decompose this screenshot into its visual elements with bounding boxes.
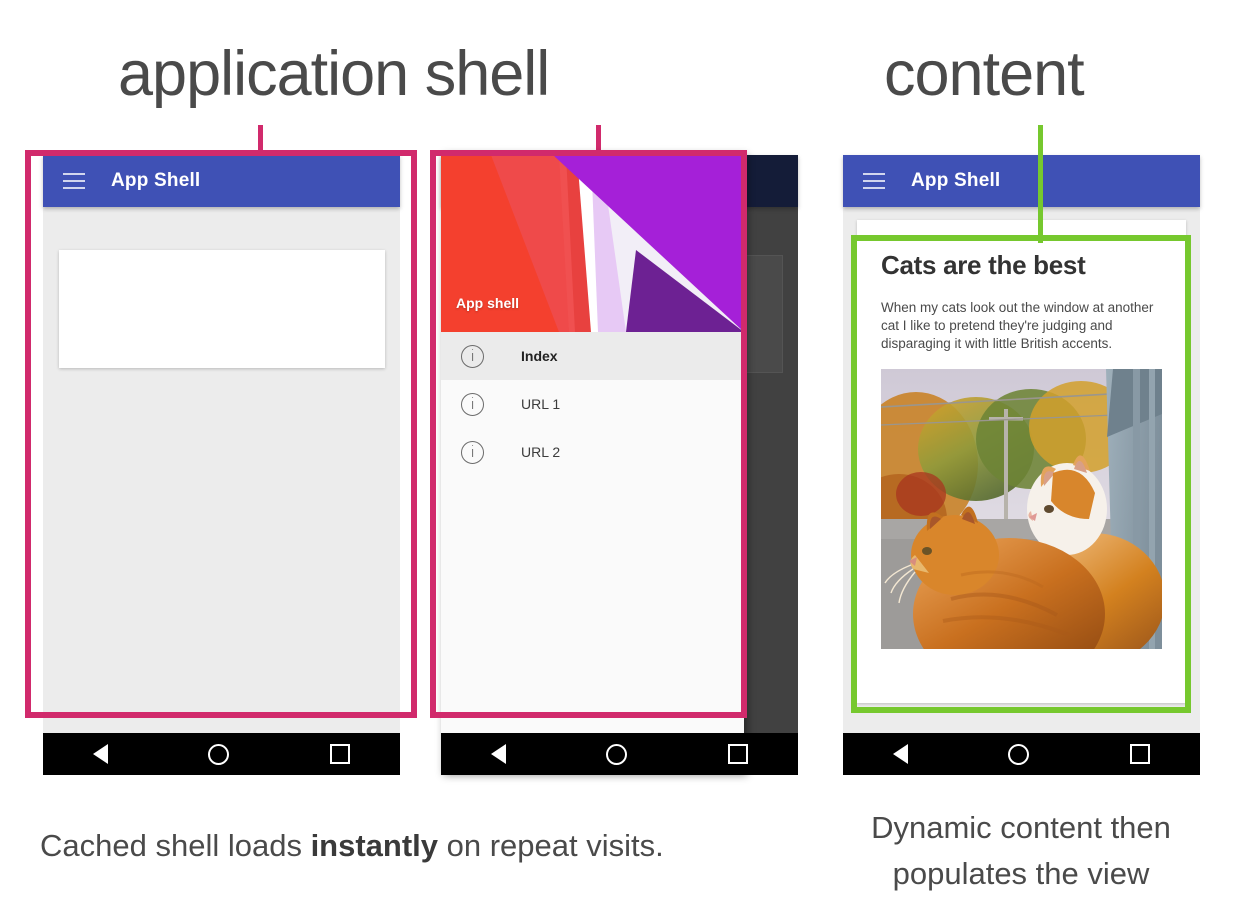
appbar-title: App Shell [111,170,200,192]
appbar-phone1: App Shell [43,155,400,207]
empty-placeholder-card [59,250,385,368]
caption-left-part2: on repeat visits. [438,828,664,863]
info-icon [461,441,484,464]
phone-mockup-content: App Shell Cats are the best When my cats… [843,155,1200,775]
android-navbar-phone3 [843,733,1200,775]
drawer-item-label: Index [521,348,558,364]
drawer-item-url-1[interactable]: URL 1 [441,380,744,428]
caption-left-emphasis: instantly [311,828,438,863]
article-card: Cats are the best When my cats look out … [857,220,1186,703]
back-triangle-icon[interactable] [491,744,506,764]
drawer-item-label: URL 1 [521,396,560,412]
heading-application-shell: application shell [118,38,549,110]
drawer-item-label: URL 2 [521,444,560,460]
connector-line-content [1038,125,1043,243]
drawer-header-image: App shell [441,155,744,332]
home-circle-icon[interactable] [1008,744,1029,765]
recents-square-icon[interactable] [330,744,350,764]
cats-window-photo-graphic [881,369,1162,649]
drawer-item-url-2[interactable]: URL 2 [441,428,744,476]
caption-left-part1: Cached shell loads [40,828,311,863]
caption-right: Dynamic content then populates the view [841,805,1201,897]
android-navbar-phone2 [441,733,798,775]
shell-body-phone1 [43,207,400,768]
home-circle-icon[interactable] [208,744,229,765]
phone-mockup-app-shell: App Shell [43,155,400,775]
back-triangle-icon[interactable] [893,744,908,764]
appbar-phone3: App Shell [843,155,1200,207]
caption-left: Cached shell loads instantly on repeat v… [40,828,664,864]
appbar-title: App Shell [911,170,1000,192]
connector-line-shell-right [596,125,601,157]
hamburger-menu-icon[interactable] [863,173,885,189]
info-icon [461,393,484,416]
recents-square-icon[interactable] [1130,744,1150,764]
content-body-phone3: Cats are the best When my cats look out … [843,207,1200,768]
android-navbar-phone1 [43,733,400,775]
article-body-text: When my cats look out the window at anot… [881,299,1162,353]
navigation-drawer: App shell Index URL 1 URL 2 [441,155,744,775]
connector-line-shell-left [258,125,263,157]
heading-content: content [884,38,1084,110]
article-title: Cats are the best [881,250,1162,281]
phone-mockup-nav-drawer: App shell Index URL 1 URL 2 [441,155,798,775]
drawer-header-label: App shell [456,295,519,311]
hamburger-menu-icon[interactable] [63,173,85,189]
home-circle-icon[interactable] [606,744,627,765]
drawer-item-list: Index URL 1 URL 2 [441,332,744,476]
recents-square-icon[interactable] [728,744,748,764]
article-photo-cats [881,369,1162,649]
info-icon [461,345,484,368]
back-triangle-icon[interactable] [93,744,108,764]
drawer-item-index[interactable]: Index [441,332,744,380]
